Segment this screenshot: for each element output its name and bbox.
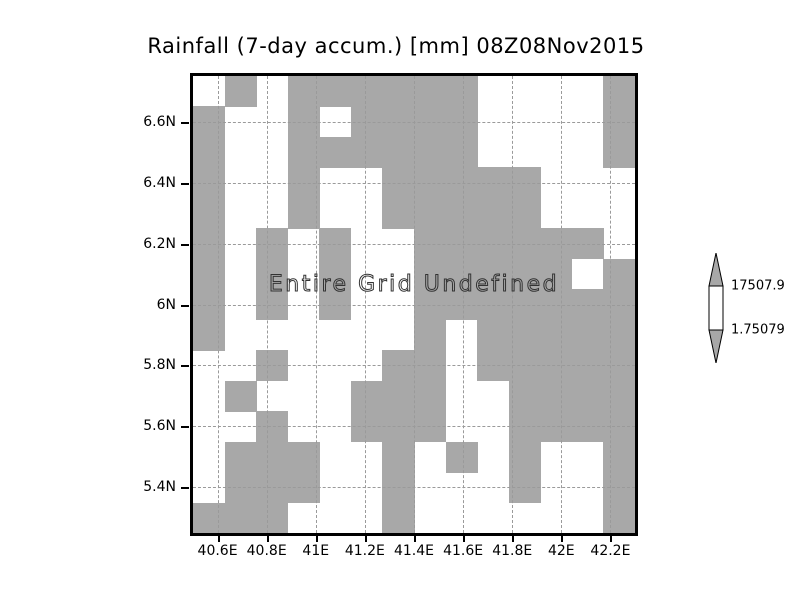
- heatmap-cell: [351, 137, 383, 168]
- colorbar-low-label: 1.75079: [731, 323, 785, 338]
- heatmap-cell: [446, 198, 478, 229]
- x-axis-tick-label: 41.2E: [345, 543, 385, 559]
- x-axis-tick: [316, 536, 318, 542]
- x-axis-tick-label: 41.4E: [394, 543, 434, 559]
- heatmap-cell: [603, 320, 635, 351]
- y-axis-tick: [181, 305, 189, 307]
- heatmap-cell: [509, 259, 541, 290]
- heatmap-cell: [225, 442, 257, 473]
- heatmap-cell: [509, 442, 541, 473]
- plot-area: Entire Grid Undefined: [190, 73, 638, 536]
- heatmap-cell: [414, 320, 446, 351]
- colorbar-shape: [703, 253, 729, 363]
- grads-rainfall-plot: Rainfall (7-day accum.) [mm] 08Z08Nov201…: [0, 0, 792, 612]
- x-axis-tick: [218, 536, 220, 542]
- heatmap-cell: [225, 503, 257, 534]
- x-axis-tick: [610, 536, 612, 542]
- heatmap-cell: [477, 259, 509, 290]
- y-axis-tick-label: 6.6N: [143, 114, 176, 130]
- heatmap-cell: [256, 503, 288, 534]
- x-axis-tick-label: 40.6E: [198, 543, 238, 559]
- heatmap-cell: [446, 137, 478, 168]
- heatmap-cell: [351, 381, 383, 412]
- heatmap-cell: [414, 259, 446, 290]
- x-axis-tick: [414, 536, 416, 542]
- heatmap-cell: [193, 198, 225, 229]
- y-axis-tick: [181, 244, 189, 246]
- colorbar: [703, 253, 729, 363]
- x-axis-tick-label: 42.2E: [590, 543, 630, 559]
- colorbar-high-label: 17507.9: [731, 279, 785, 294]
- heatmap-cell: [446, 259, 478, 290]
- heatmap-cell: [193, 503, 225, 534]
- heatmap-cell: [477, 320, 509, 351]
- x-axis-tick-label: 41.8E: [492, 543, 532, 559]
- x-axis-tick: [463, 536, 465, 542]
- heatmap-cell: [477, 198, 509, 229]
- y-axis-tick-label: 5.6N: [143, 418, 176, 434]
- heatmap-cell: [572, 381, 604, 412]
- page-title: Rainfall (7-day accum.) [mm] 08Z08Nov201…: [0, 34, 792, 58]
- heatmap-cell: [382, 442, 414, 473]
- y-axis-tick-label: 5.4N: [143, 479, 176, 495]
- heatmap-cell: [382, 198, 414, 229]
- gridline-horizontal: [193, 183, 635, 184]
- x-axis-tick-label: 41E: [302, 543, 329, 559]
- heatmap-cell: [256, 442, 288, 473]
- gridline-horizontal: [193, 305, 635, 306]
- heatmap-cell: [382, 381, 414, 412]
- x-axis-tick-label: 42E: [548, 543, 575, 559]
- heatmap-cell: [382, 76, 414, 107]
- heatmap-cell: [414, 381, 446, 412]
- heatmap-cell: [509, 198, 541, 229]
- heatmap-cell: [193, 137, 225, 168]
- heatmap-cell: [319, 76, 351, 107]
- y-axis-tick-label: 5.8N: [143, 357, 176, 373]
- colorbar-middle-band: [709, 286, 723, 330]
- y-axis-tick-label: 6N: [157, 297, 176, 313]
- heatmap-cell: [603, 442, 635, 473]
- heatmap-cell: [603, 76, 635, 107]
- x-axis-tick-label: 41.6E: [443, 543, 483, 559]
- x-axis-tick: [365, 536, 367, 542]
- heatmap-cell: [603, 503, 635, 534]
- y-axis-tick: [181, 426, 189, 428]
- heatmap-cell: [382, 503, 414, 534]
- heatmap-cell: [225, 76, 257, 107]
- y-axis-tick-label: 6.4N: [143, 175, 176, 191]
- heatmap-cell: [382, 137, 414, 168]
- heatmap-cell: [603, 259, 635, 290]
- heatmap-cell: [414, 198, 446, 229]
- colorbar-bottom-cap-icon: [709, 330, 723, 363]
- heatmap-cell: [319, 259, 351, 290]
- gridline-horizontal: [193, 122, 635, 123]
- heatmap-cell: [414, 76, 446, 107]
- heatmap-cell: [603, 137, 635, 168]
- heatmap-cell: [603, 381, 635, 412]
- heatmap-cell: [256, 259, 288, 290]
- x-axis-tick: [561, 536, 563, 542]
- heatmap-cell: [446, 442, 478, 473]
- x-axis-tick: [267, 536, 269, 542]
- heatmap-cell: [193, 320, 225, 351]
- heatmap-cell: [414, 137, 446, 168]
- heatmap-cell: [509, 381, 541, 412]
- heatmap-cell: [509, 320, 541, 351]
- y-axis-tick: [181, 122, 189, 124]
- gridline-horizontal: [193, 426, 635, 427]
- gridline-horizontal: [193, 365, 635, 366]
- colorbar-top-cap-icon: [709, 253, 723, 286]
- y-axis-tick-label: 6.2N: [143, 236, 176, 252]
- gridline-horizontal: [193, 244, 635, 245]
- heatmap-cell: [319, 137, 351, 168]
- heatmap-cell: [540, 381, 572, 412]
- y-axis-tick: [181, 365, 189, 367]
- heatmap-cell: [225, 381, 257, 412]
- x-axis-tick-label: 40.8E: [247, 543, 287, 559]
- y-axis-tick: [181, 183, 189, 185]
- heatmap-cell: [446, 76, 478, 107]
- heatmap-cell: [540, 320, 572, 351]
- heatmap-cell: [540, 259, 572, 290]
- heatmap-cell: [193, 259, 225, 290]
- gridline-horizontal: [193, 487, 635, 488]
- y-axis-tick: [181, 487, 189, 489]
- x-axis-tick: [512, 536, 514, 542]
- heatmap-cell: [572, 320, 604, 351]
- heatmap-cell: [351, 76, 383, 107]
